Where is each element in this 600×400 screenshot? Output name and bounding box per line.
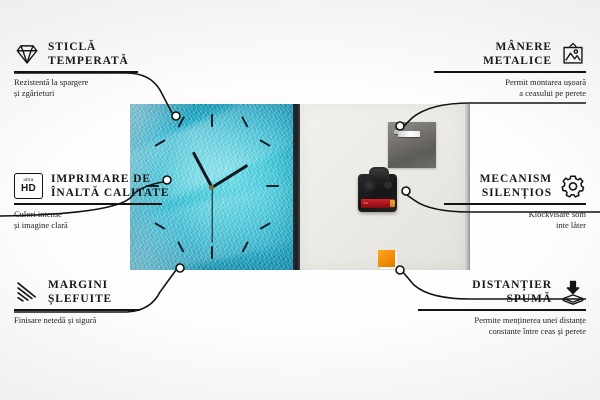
callout-desc-line2: constante între ceas și perete bbox=[376, 326, 586, 337]
battery: AA bbox=[361, 199, 394, 208]
callout-title-line1: MECANISM bbox=[480, 172, 552, 186]
picture-frame-hanger-icon bbox=[560, 41, 586, 67]
foam-spacer bbox=[378, 250, 395, 267]
clock-panel-edge bbox=[293, 104, 300, 270]
clock-tick bbox=[211, 246, 213, 259]
callout-metal-hangers: MÂNERE METALICE Permit montarea ușoară a… bbox=[396, 40, 586, 99]
callout-rule bbox=[444, 203, 586, 205]
callout-rule bbox=[14, 309, 140, 311]
clock-tick bbox=[211, 114, 213, 127]
callout-desc-line1: Permite menținerea unei distanțe bbox=[376, 315, 586, 326]
clock-mechanism: AA bbox=[358, 174, 397, 212]
callout-title-line1: IMPRIMARE DE bbox=[51, 172, 169, 186]
mechanism-dial bbox=[363, 180, 378, 194]
callout-title-line1: STICLĂ bbox=[48, 40, 129, 54]
callout-title-line2: ÎNALTĂ CALITATE bbox=[51, 186, 169, 200]
callout-rule bbox=[14, 203, 162, 205]
callout-silent-mechanism: MECANISM SILENȚIOS Klockvisare som inte … bbox=[406, 172, 586, 231]
callout-desc-line2: a ceasului pe perete bbox=[396, 88, 586, 99]
callout-desc-line1: Klockvisare som bbox=[406, 209, 586, 220]
callout-rule bbox=[434, 71, 586, 73]
callout-rule bbox=[418, 309, 586, 311]
battery-label: AA bbox=[364, 201, 368, 205]
metal-hanger-plate bbox=[388, 122, 436, 168]
callout-rule bbox=[14, 71, 138, 73]
callout-title-line2: METALICE bbox=[483, 54, 552, 68]
mechanism-dial-secondary bbox=[384, 181, 392, 189]
callout-title-line2: TEMPERATĂ bbox=[48, 54, 129, 68]
callout-title-line1: MARGINI bbox=[48, 278, 112, 292]
infographic-poster: AA bbox=[0, 0, 600, 400]
callout-tempered-glass: STICLĂ TEMPERATĂ Rezistentă la spargere … bbox=[14, 40, 194, 99]
callout-desc-line2: inte låter bbox=[406, 220, 586, 231]
callout-title-line2: SILENȚIOS bbox=[480, 186, 552, 200]
callout-title-line2: ȘLEFUITE bbox=[48, 292, 112, 306]
polished-edges-icon bbox=[14, 279, 40, 305]
mechanism-hook bbox=[369, 167, 389, 179]
gear-icon bbox=[560, 173, 586, 199]
callout-polished-edges: MARGINI ȘLEFUITE Finisare netedă și sigu… bbox=[14, 278, 204, 326]
callout-desc-line1: Finisare netedă și sigură bbox=[14, 315, 204, 326]
diamond-icon bbox=[14, 41, 40, 67]
clock-tick bbox=[266, 185, 279, 187]
callout-desc-line1: Permit montarea ușoară bbox=[396, 77, 586, 88]
foam-spacer-icon bbox=[560, 279, 586, 305]
callout-desc-line1: Rezistentă la spargere bbox=[14, 77, 194, 88]
callout-desc-line2: și zgârieturi bbox=[14, 88, 194, 99]
callout-title-line1: MÂNERE bbox=[483, 40, 552, 54]
battery-terminal bbox=[390, 200, 395, 207]
callout-foam-spacer: DISTANȚIER SPUMĂ Permite menținerea unei… bbox=[376, 278, 586, 337]
callout-desc-line1: Culori intense bbox=[14, 209, 214, 220]
badge-hd-text: HD bbox=[21, 184, 36, 194]
callout-high-quality-print: ultra HD IMPRIMARE DE ÎNALTĂ CALITATE Cu… bbox=[14, 172, 214, 231]
callout-desc-line2: și imagine clară bbox=[14, 220, 214, 231]
hanger-slot bbox=[398, 131, 420, 137]
callout-title-line1: DISTANȚIER bbox=[472, 278, 552, 292]
ultra-hd-badge-icon: ultra HD bbox=[14, 173, 43, 199]
callout-title-line2: SPUMĂ bbox=[472, 292, 552, 306]
